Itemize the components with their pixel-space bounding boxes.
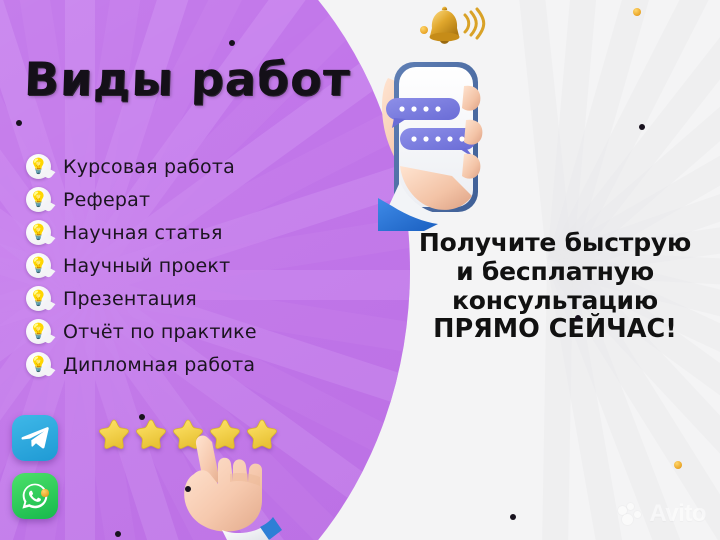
cta-line-2: и бесплатную [400, 257, 710, 286]
lightbulb-icon: 💡 [26, 319, 51, 344]
lightbulb-icon: 💡 [26, 220, 51, 245]
list-item: 💡 Курсовая работа [26, 150, 326, 183]
notification-bell-icon [424, 4, 486, 54]
page-title: Виды работ [23, 52, 351, 106]
service-label: Реферат [63, 189, 150, 211]
avito-logo-icon [618, 503, 644, 525]
list-item: 💡 Презентация [26, 282, 326, 315]
service-label: Дипломная работа [63, 354, 255, 376]
confetti-dot [16, 120, 22, 126]
service-label: Научный проект [63, 255, 230, 277]
pointing-hand-icon [172, 430, 287, 540]
service-label: Презентация [63, 288, 197, 310]
cta-headline: Получите быструю и бесплатную консультац… [400, 228, 710, 345]
confetti-dot [420, 26, 428, 34]
list-item: 💡 Научная статья [26, 216, 326, 249]
service-label: Научная статья [63, 222, 223, 244]
telegram-icon[interactable] [12, 415, 58, 461]
confetti-dot [139, 414, 145, 420]
star-icon [134, 418, 168, 451]
star-icon [97, 418, 131, 451]
lightbulb-icon: 💡 [26, 352, 51, 377]
cta-line-3: консультацию [400, 286, 710, 315]
list-item: 💡 Научный проект [26, 249, 326, 282]
confetti-dot [115, 531, 121, 537]
service-label: Отчёт по практике [63, 321, 257, 343]
lightbulb-icon: 💡 [26, 253, 51, 278]
lightbulb-icon: 💡 [26, 286, 51, 311]
cta-line-1: Получите быструю [400, 228, 710, 257]
messenger-icons [12, 415, 58, 531]
confetti-dot [575, 315, 581, 321]
avito-wordmark: Avito [649, 502, 706, 526]
list-item: 💡 Дипломная работа [26, 348, 326, 381]
services-list: 💡 Курсовая работа 💡 Реферат 💡 Научная ст… [26, 150, 326, 381]
list-item: 💡 Реферат [26, 183, 326, 216]
cta-line-4: ПРЯМО СЕЙЧАС! [400, 315, 710, 345]
service-label: Курсовая работа [63, 156, 235, 178]
list-item: 💡 Отчёт по практике [26, 315, 326, 348]
promo-poster: Виды работ 💡 Курсовая работа 💡 Реферат 💡… [0, 0, 720, 540]
avito-watermark: Avito [618, 502, 706, 526]
confetti-dot [41, 489, 48, 496]
whatsapp-icon[interactable] [12, 473, 58, 519]
confetti-dot [633, 8, 641, 16]
lightbulb-icon: 💡 [26, 154, 51, 179]
lightbulb-icon: 💡 [26, 187, 51, 212]
